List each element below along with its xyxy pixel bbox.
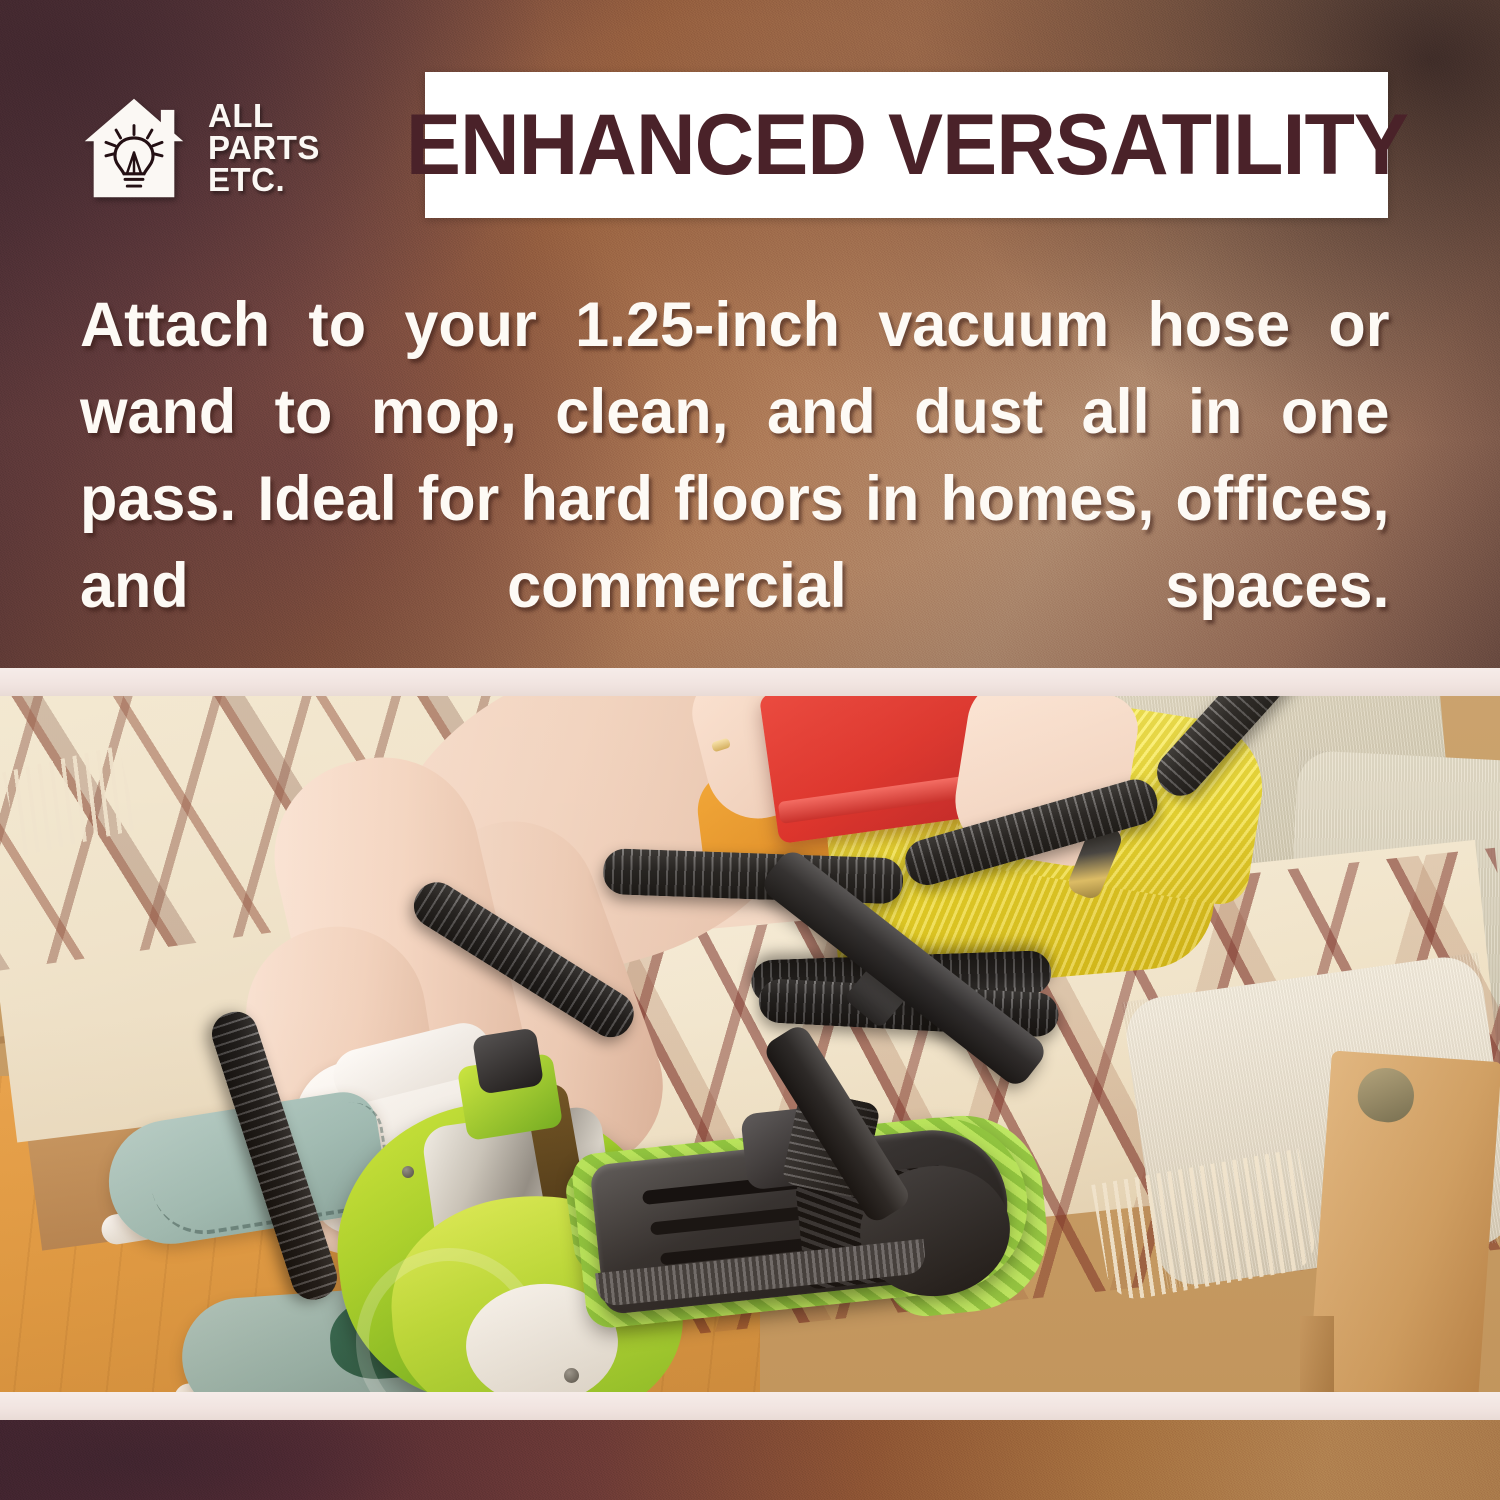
infographic-canvas: ALL PARTS ETC. ENHANCED VERSATILITY Atta…	[0, 0, 1500, 1500]
separator-band-bottom	[0, 1392, 1500, 1420]
canister-vacuum-screw	[402, 1166, 414, 1178]
brand-line-3: ETC.	[208, 164, 320, 196]
separator-band-top	[0, 668, 1500, 696]
brand-logo[interactable]: ALL PARTS ETC.	[78, 78, 378, 218]
background-texture-overlay	[0, 1420, 1500, 1500]
body-paragraph: Attach to your 1.25-inch vacuum hose or …	[80, 282, 1390, 717]
brand-line-2: PARTS	[208, 132, 320, 164]
canister-vacuum-button	[564, 1368, 579, 1383]
body-copy: Attach to your 1.25-inch vacuum hose or …	[80, 282, 1390, 717]
daybed-leg	[1300, 1316, 1334, 1392]
brand-wordmark: ALL PARTS ETC.	[208, 100, 320, 195]
product-lifestyle-photo	[0, 696, 1500, 1392]
bottom-background-panel	[0, 1420, 1500, 1500]
house-lightbulb-icon	[78, 92, 190, 204]
page-title: ENHANCED VERSATILITY	[405, 102, 1407, 188]
brand-line-1: ALL	[208, 100, 320, 132]
headline-banner: ENHANCED VERSATILITY	[425, 72, 1388, 218]
canister-vacuum-inlet	[472, 1027, 544, 1094]
